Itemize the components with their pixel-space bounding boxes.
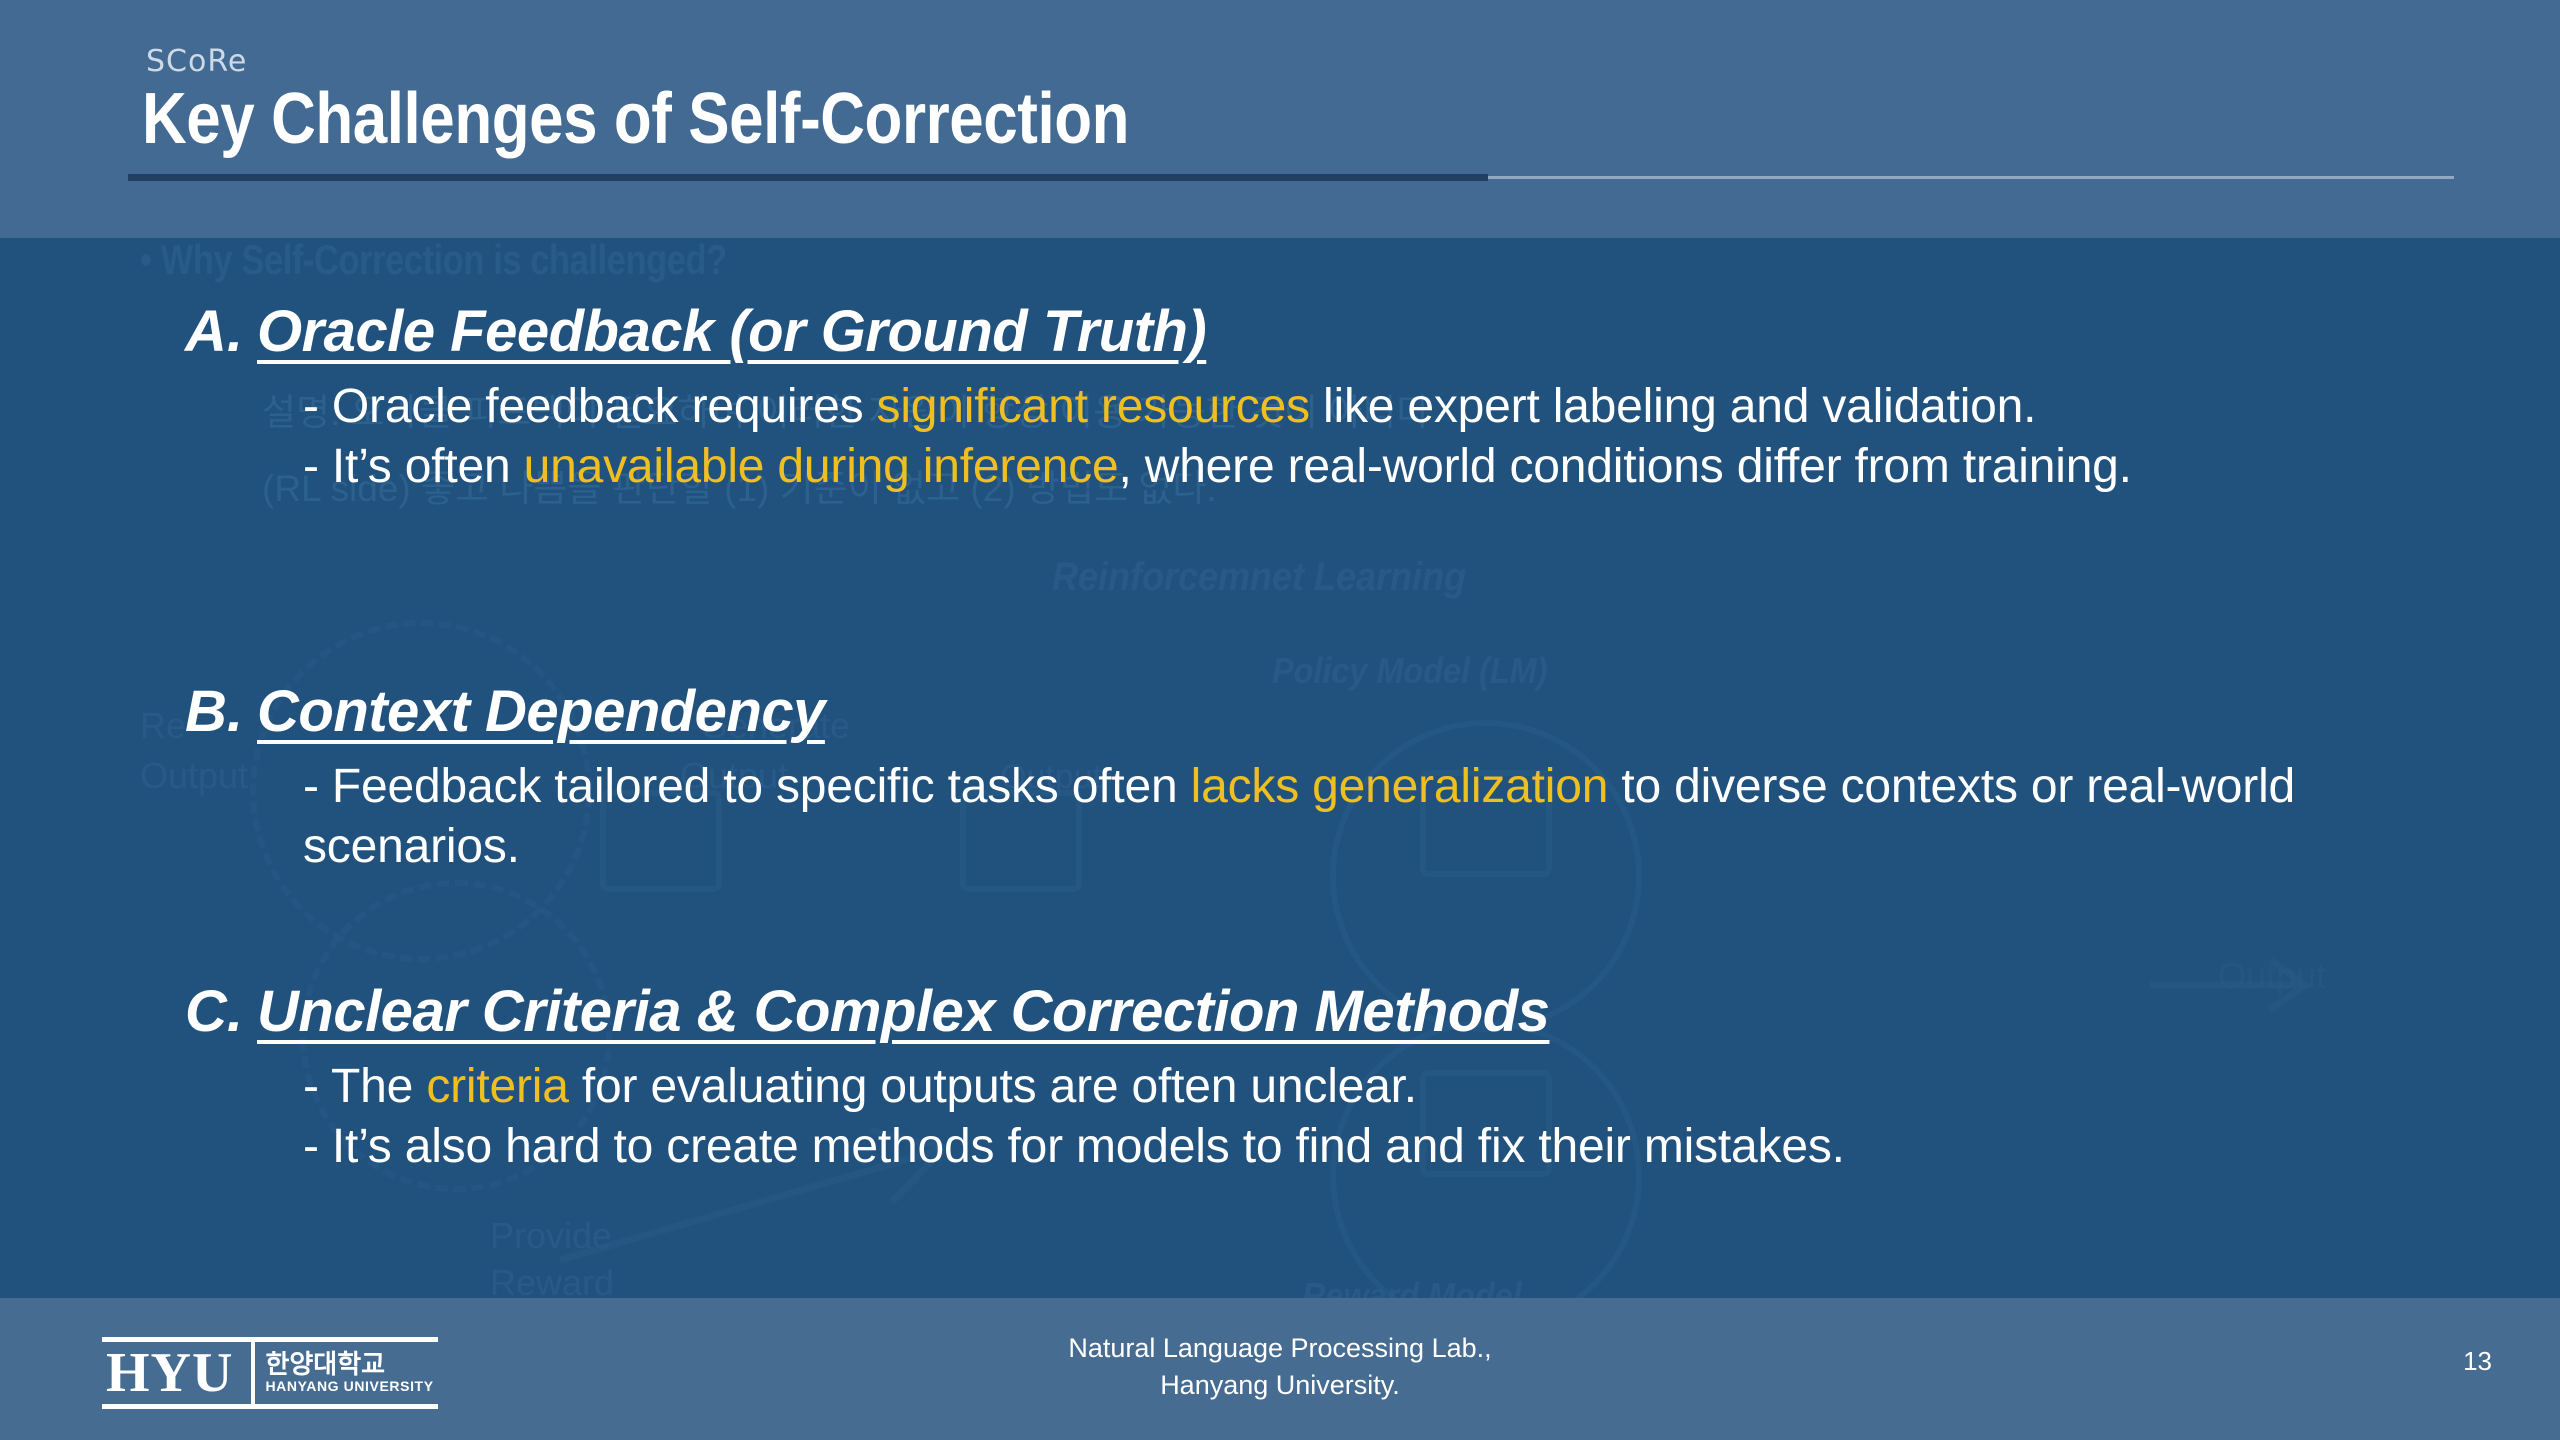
section-c-body: - The criteria for evaluating outputs ar…	[303, 1057, 2475, 1178]
section-a-body: - Oracle feedback requires significant r…	[303, 377, 2475, 498]
section-b-bullet-1: - Feedback tailored to specific tasks of…	[303, 757, 2475, 878]
section-c-bullet-2: - It’s also hard to create methods for m…	[303, 1117, 2475, 1177]
slide-body: A. Oracle Feedback (or Ground Truth) - O…	[0, 238, 2560, 1298]
section-b: B. Context Dependency - Feedback tailore…	[185, 678, 2475, 878]
highlighted-phrase: lacks generalization	[1191, 760, 1609, 813]
section-b-letter: B.	[185, 678, 257, 745]
section-b-heading: B. Context Dependency	[185, 678, 2475, 745]
bullet-text-run: - The	[303, 1060, 426, 1113]
bullet-text-run: , where real-world conditions differ fro…	[1118, 440, 2131, 493]
section-a-letter: A.	[185, 298, 257, 365]
section-c-title: Unclear Criteria & Complex Correction Me…	[257, 978, 1549, 1045]
title-rule-secondary	[1488, 176, 2454, 179]
slide-header: SCoRe Key Challenges of Self-Correction	[0, 0, 2560, 238]
bullet-text-run: like expert labeling and validation.	[1310, 380, 2036, 433]
section-c-bullet-1: - The criteria for evaluating outputs ar…	[303, 1057, 2475, 1117]
section-c-letter: C.	[185, 978, 257, 1045]
slide-footer: HYU 한양대학교 HANYANG UNIVERSITY Natural Lan…	[0, 1298, 2560, 1440]
bullet-text-run: - It’s also hard to create methods for m…	[303, 1120, 1845, 1173]
page-number: 13	[2463, 1346, 2492, 1377]
highlighted-phrase: significant resources	[877, 380, 1310, 433]
eyebrow-label: SCoRe	[146, 44, 247, 79]
slide: • Why Self-Correction is challenged? 설명:…	[0, 0, 2560, 1440]
section-b-body: - Feedback tailored to specific tasks of…	[303, 757, 2475, 878]
title-rule-primary	[128, 174, 1488, 181]
footer-affiliation: Natural Language Processing Lab., Hanyan…	[0, 1330, 2560, 1405]
section-a: A. Oracle Feedback (or Ground Truth) - O…	[185, 298, 2475, 498]
section-a-bullet-1: - Oracle feedback requires significant r…	[303, 377, 2475, 437]
section-a-heading: A. Oracle Feedback (or Ground Truth)	[185, 298, 2475, 365]
section-c: C. Unclear Criteria & Complex Correction…	[185, 978, 2475, 1178]
bullet-text-run: - Feedback tailored to specific tasks of…	[303, 760, 1191, 813]
highlighted-phrase: unavailable during inference	[524, 440, 1119, 493]
bullet-text-run: for evaluating outputs are often unclear…	[569, 1060, 1417, 1113]
section-a-bullet-2: - It’s often unavailable during inferenc…	[303, 437, 2475, 497]
footer-affiliation-line-1: Natural Language Processing Lab.,	[0, 1330, 2560, 1367]
bullet-text-run: - Oracle feedback requires	[303, 380, 877, 433]
bullet-text-run: - It’s often	[303, 440, 524, 493]
highlighted-phrase: criteria	[426, 1060, 568, 1113]
section-b-title: Context Dependency	[257, 678, 825, 745]
footer-affiliation-line-2: Hanyang University.	[0, 1367, 2560, 1404]
section-c-heading: C. Unclear Criteria & Complex Correction…	[185, 978, 2475, 1045]
page-title: Key Challenges of Self-Correction	[142, 78, 1129, 160]
section-a-title: Oracle Feedback (or Ground Truth)	[257, 298, 1206, 365]
